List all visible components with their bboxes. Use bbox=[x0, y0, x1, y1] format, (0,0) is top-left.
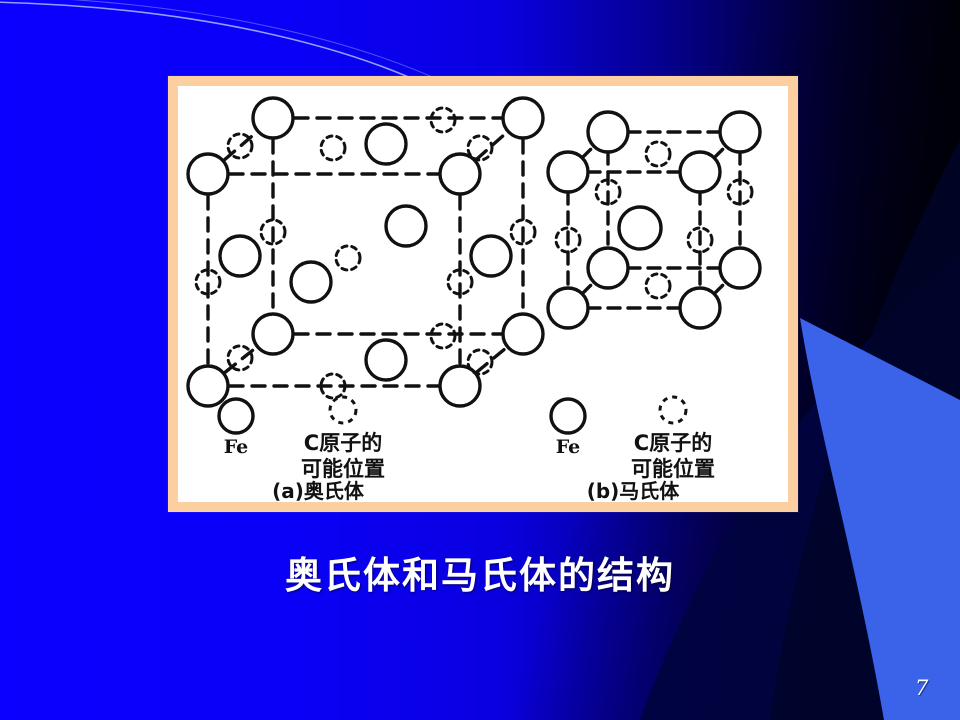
panel-b-fe-atoms bbox=[548, 112, 760, 328]
crystal-structure-diagram: Fe C原子的 可能位置 Fe C原子的 可能位置 (a)奥氏体 (b)马氏体 bbox=[178, 86, 788, 502]
legend-a-c-symbol bbox=[330, 397, 356, 423]
legend-b-c-label-line2: 可能位置 bbox=[631, 457, 715, 481]
slide-canvas: Fe C原子的 可能位置 Fe C原子的 可能位置 (a)奥氏体 (b)马氏体 bbox=[0, 0, 960, 720]
legend-a-fe-label: Fe bbox=[224, 436, 249, 458]
panel-b-caption: (b)马氏体 bbox=[587, 479, 681, 502]
legend-a-c-label-line2: 可能位置 bbox=[301, 457, 385, 481]
slide-title: 奥氏体和马氏体的结构 bbox=[0, 545, 960, 599]
legend-b-c-symbol bbox=[660, 397, 686, 423]
legend-b-c-label-line1: C原子的 bbox=[634, 431, 712, 455]
legend-b-fe-label: Fe bbox=[556, 436, 581, 458]
panel-b-lattice bbox=[548, 112, 760, 328]
panel-a-legend: Fe C原子的 可能位置 bbox=[219, 397, 385, 481]
image-frame: Fe C原子的 可能位置 Fe C原子的 可能位置 (a)奥氏体 (b)马氏体 bbox=[168, 76, 798, 512]
image-canvas: Fe C原子的 可能位置 Fe C原子的 可能位置 (a)奥氏体 (b)马氏体 bbox=[178, 86, 788, 502]
panel-b-legend: Fe C原子的 可能位置 bbox=[551, 397, 715, 481]
page-number: 7 bbox=[915, 676, 928, 700]
panel-a-caption: (a)奥氏体 bbox=[272, 479, 365, 502]
panel-a-lattice bbox=[188, 98, 543, 406]
legend-a-c-label-line1: C原子的 bbox=[304, 431, 382, 455]
legend-a-fe-symbol bbox=[219, 399, 253, 433]
legend-b-fe-symbol bbox=[551, 399, 585, 433]
